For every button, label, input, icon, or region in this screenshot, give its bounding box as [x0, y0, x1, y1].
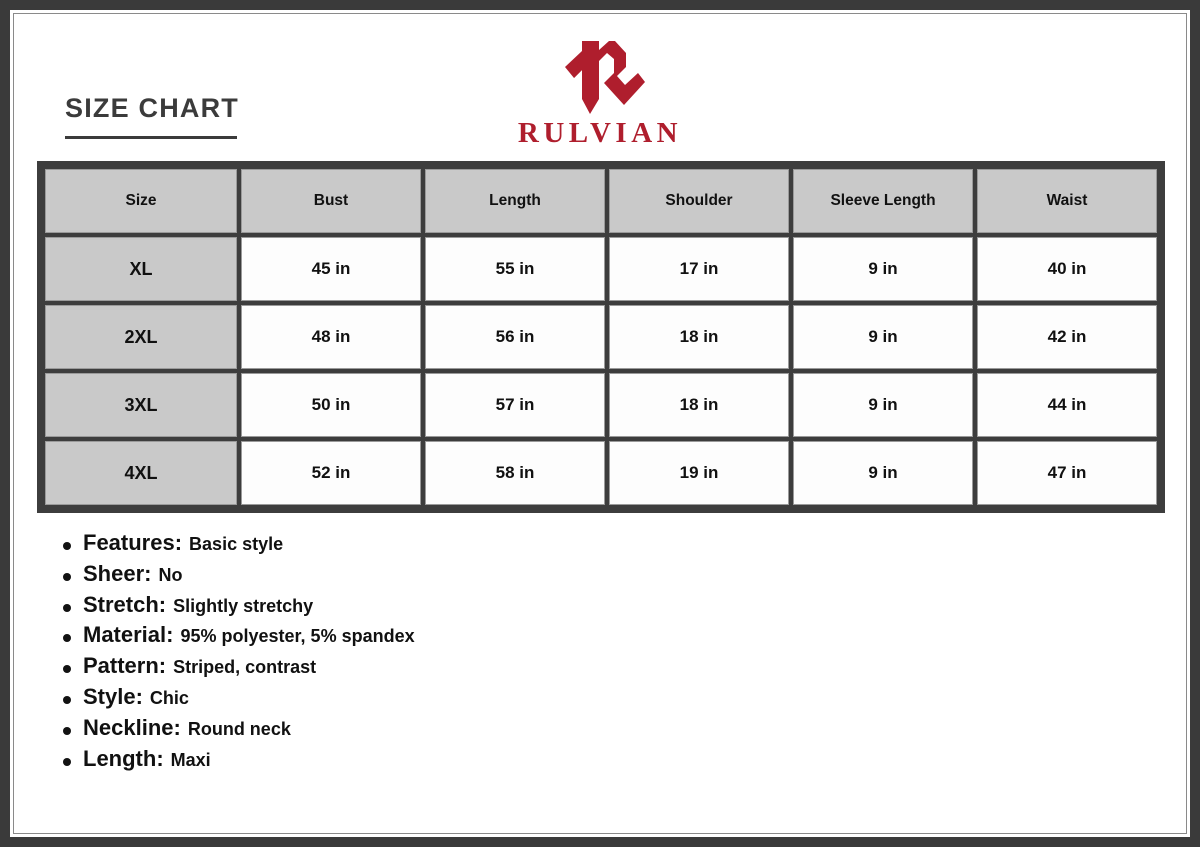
list-item: Features:Basic style	[57, 531, 1165, 555]
spec-label: Style:	[83, 684, 143, 709]
spec-value: Maxi	[171, 750, 211, 770]
cell-length: 55 in	[425, 237, 605, 301]
cell-length: 58 in	[425, 441, 605, 505]
column-header-shoulder: Shoulder	[609, 169, 789, 233]
column-header-sleeve-length: Sleeve Length	[793, 169, 973, 233]
list-item: Sheer:No	[57, 562, 1165, 586]
column-header-size: Size	[45, 169, 237, 233]
cell-sleeve-length: 9 in	[793, 441, 973, 505]
spec-value: Slightly stretchy	[173, 596, 313, 616]
spec-value: 95% polyester, 5% spandex	[180, 626, 414, 646]
cell-size: XL	[45, 237, 237, 301]
spec-label: Stretch:	[83, 592, 166, 617]
table-row: 4XL 52 in 58 in 19 in 9 in 47 in	[45, 441, 1157, 505]
cell-waist: 40 in	[977, 237, 1157, 301]
cell-size: 4XL	[45, 441, 237, 505]
cell-bust: 52 in	[241, 441, 421, 505]
cell-bust: 48 in	[241, 305, 421, 369]
spec-value: Chic	[150, 688, 189, 708]
cell-length: 56 in	[425, 305, 605, 369]
cell-shoulder: 19 in	[609, 441, 789, 505]
cell-shoulder: 17 in	[609, 237, 789, 301]
cell-waist: 44 in	[977, 373, 1157, 437]
cell-length: 57 in	[425, 373, 605, 437]
cell-waist: 47 in	[977, 441, 1157, 505]
table-header-row: Size Bust Length Shoulder Sleeve Length …	[45, 169, 1157, 233]
table-row: XL 45 in 55 in 17 in 9 in 40 in	[45, 237, 1157, 301]
list-item: Neckline:Round neck	[57, 716, 1165, 740]
page-inner-frame: SIZE CHART RULVIAN Size Bust Length	[10, 10, 1190, 837]
cell-size: 3XL	[45, 373, 237, 437]
spec-value: Striped, contrast	[173, 657, 316, 677]
list-item: Stretch:Slightly stretchy	[57, 593, 1165, 617]
product-spec-list: Features:Basic style Sheer:No Stretch:Sl…	[37, 531, 1165, 770]
list-item: Pattern:Striped, contrast	[57, 654, 1165, 678]
cell-shoulder: 18 in	[609, 373, 789, 437]
list-item: Style:Chic	[57, 685, 1165, 709]
angular-r-monogram-icon	[552, 37, 648, 117]
spec-label: Sheer:	[83, 561, 151, 586]
cell-bust: 45 in	[241, 237, 421, 301]
cell-bust: 50 in	[241, 373, 421, 437]
spec-label: Neckline:	[83, 715, 181, 740]
column-header-waist: Waist	[977, 169, 1157, 233]
column-header-bust: Bust	[241, 169, 421, 233]
list-item: Length:Maxi	[57, 747, 1165, 771]
spec-label: Pattern:	[83, 653, 166, 678]
cell-sleeve-length: 9 in	[793, 373, 973, 437]
size-chart-page: SIZE CHART RULVIAN Size Bust Length	[0, 0, 1200, 847]
cell-shoulder: 18 in	[609, 305, 789, 369]
page-header: SIZE CHART RULVIAN	[37, 33, 1163, 161]
brand-wordmark: RULVIAN	[518, 119, 682, 148]
table-row: 2XL 48 in 56 in 18 in 9 in 42 in	[45, 305, 1157, 369]
size-chart-table: Size Bust Length Shoulder Sleeve Length …	[37, 161, 1165, 513]
brand-logo: RULVIAN	[37, 37, 1163, 148]
column-header-length: Length	[425, 169, 605, 233]
cell-size: 2XL	[45, 305, 237, 369]
spec-label: Length:	[83, 746, 164, 771]
list-item: Material:95% polyester, 5% spandex	[57, 623, 1165, 647]
cell-waist: 42 in	[977, 305, 1157, 369]
cell-sleeve-length: 9 in	[793, 305, 973, 369]
spec-label: Features:	[83, 530, 182, 555]
table-row: 3XL 50 in 57 in 18 in 9 in 44 in	[45, 373, 1157, 437]
spec-value: No	[158, 565, 182, 585]
spec-value: Round neck	[188, 719, 291, 739]
spec-label: Material:	[83, 622, 173, 647]
cell-sleeve-length: 9 in	[793, 237, 973, 301]
spec-value: Basic style	[189, 534, 283, 554]
